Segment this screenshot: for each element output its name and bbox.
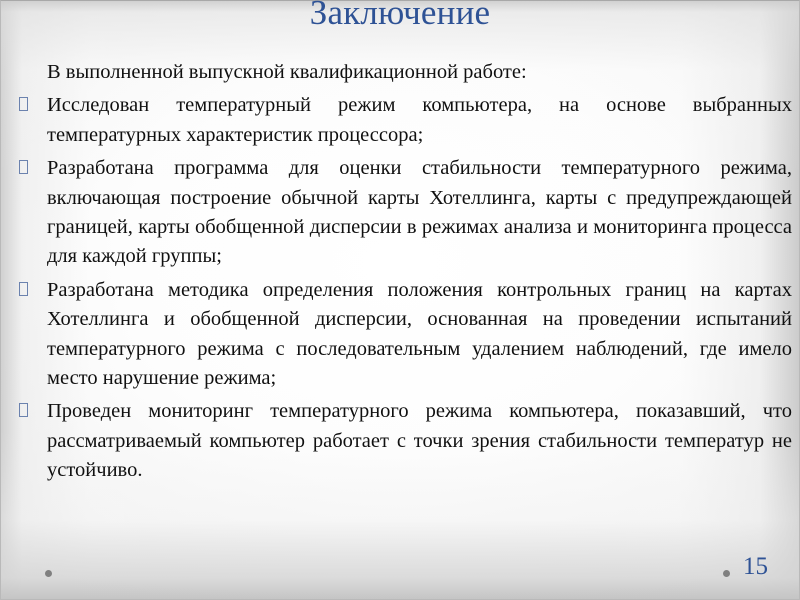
bullet-item: Разработана методика определения положен… xyxy=(14,276,792,394)
slide-page-number: 15 xyxy=(743,553,768,581)
empty-box-bullet-icon xyxy=(14,91,47,120)
bullet-item: Разработана программа для оценки стабиль… xyxy=(14,154,792,272)
intro-paragraph: В выполненной выпускной квалификационной… xyxy=(47,58,792,87)
slide-title: Заключение xyxy=(0,0,800,35)
footer-dot-right-icon xyxy=(723,570,730,577)
empty-box-bullet-icon xyxy=(14,276,47,305)
empty-box-bullet-icon xyxy=(14,397,47,426)
bullet-text: Разработана программа для оценки стабиль… xyxy=(47,154,792,272)
bullet-text: Проведен мониторинг температурного режим… xyxy=(47,397,792,485)
bullet-text: Разработана методика определения положен… xyxy=(47,276,792,394)
empty-box-bullet-icon xyxy=(14,154,47,183)
footer-dot-left-icon xyxy=(45,570,52,577)
bullet-item: Исследован температурный режим компьютер… xyxy=(14,91,792,150)
slide-body: В выполненной выпускной квалификационной… xyxy=(14,58,792,490)
bullet-item: Проведен мониторинг температурного режим… xyxy=(14,397,792,485)
presentation-slide: Заключение В выполненной выпускной квали… xyxy=(0,0,800,600)
bullet-text: Исследован температурный режим компьютер… xyxy=(47,91,792,150)
